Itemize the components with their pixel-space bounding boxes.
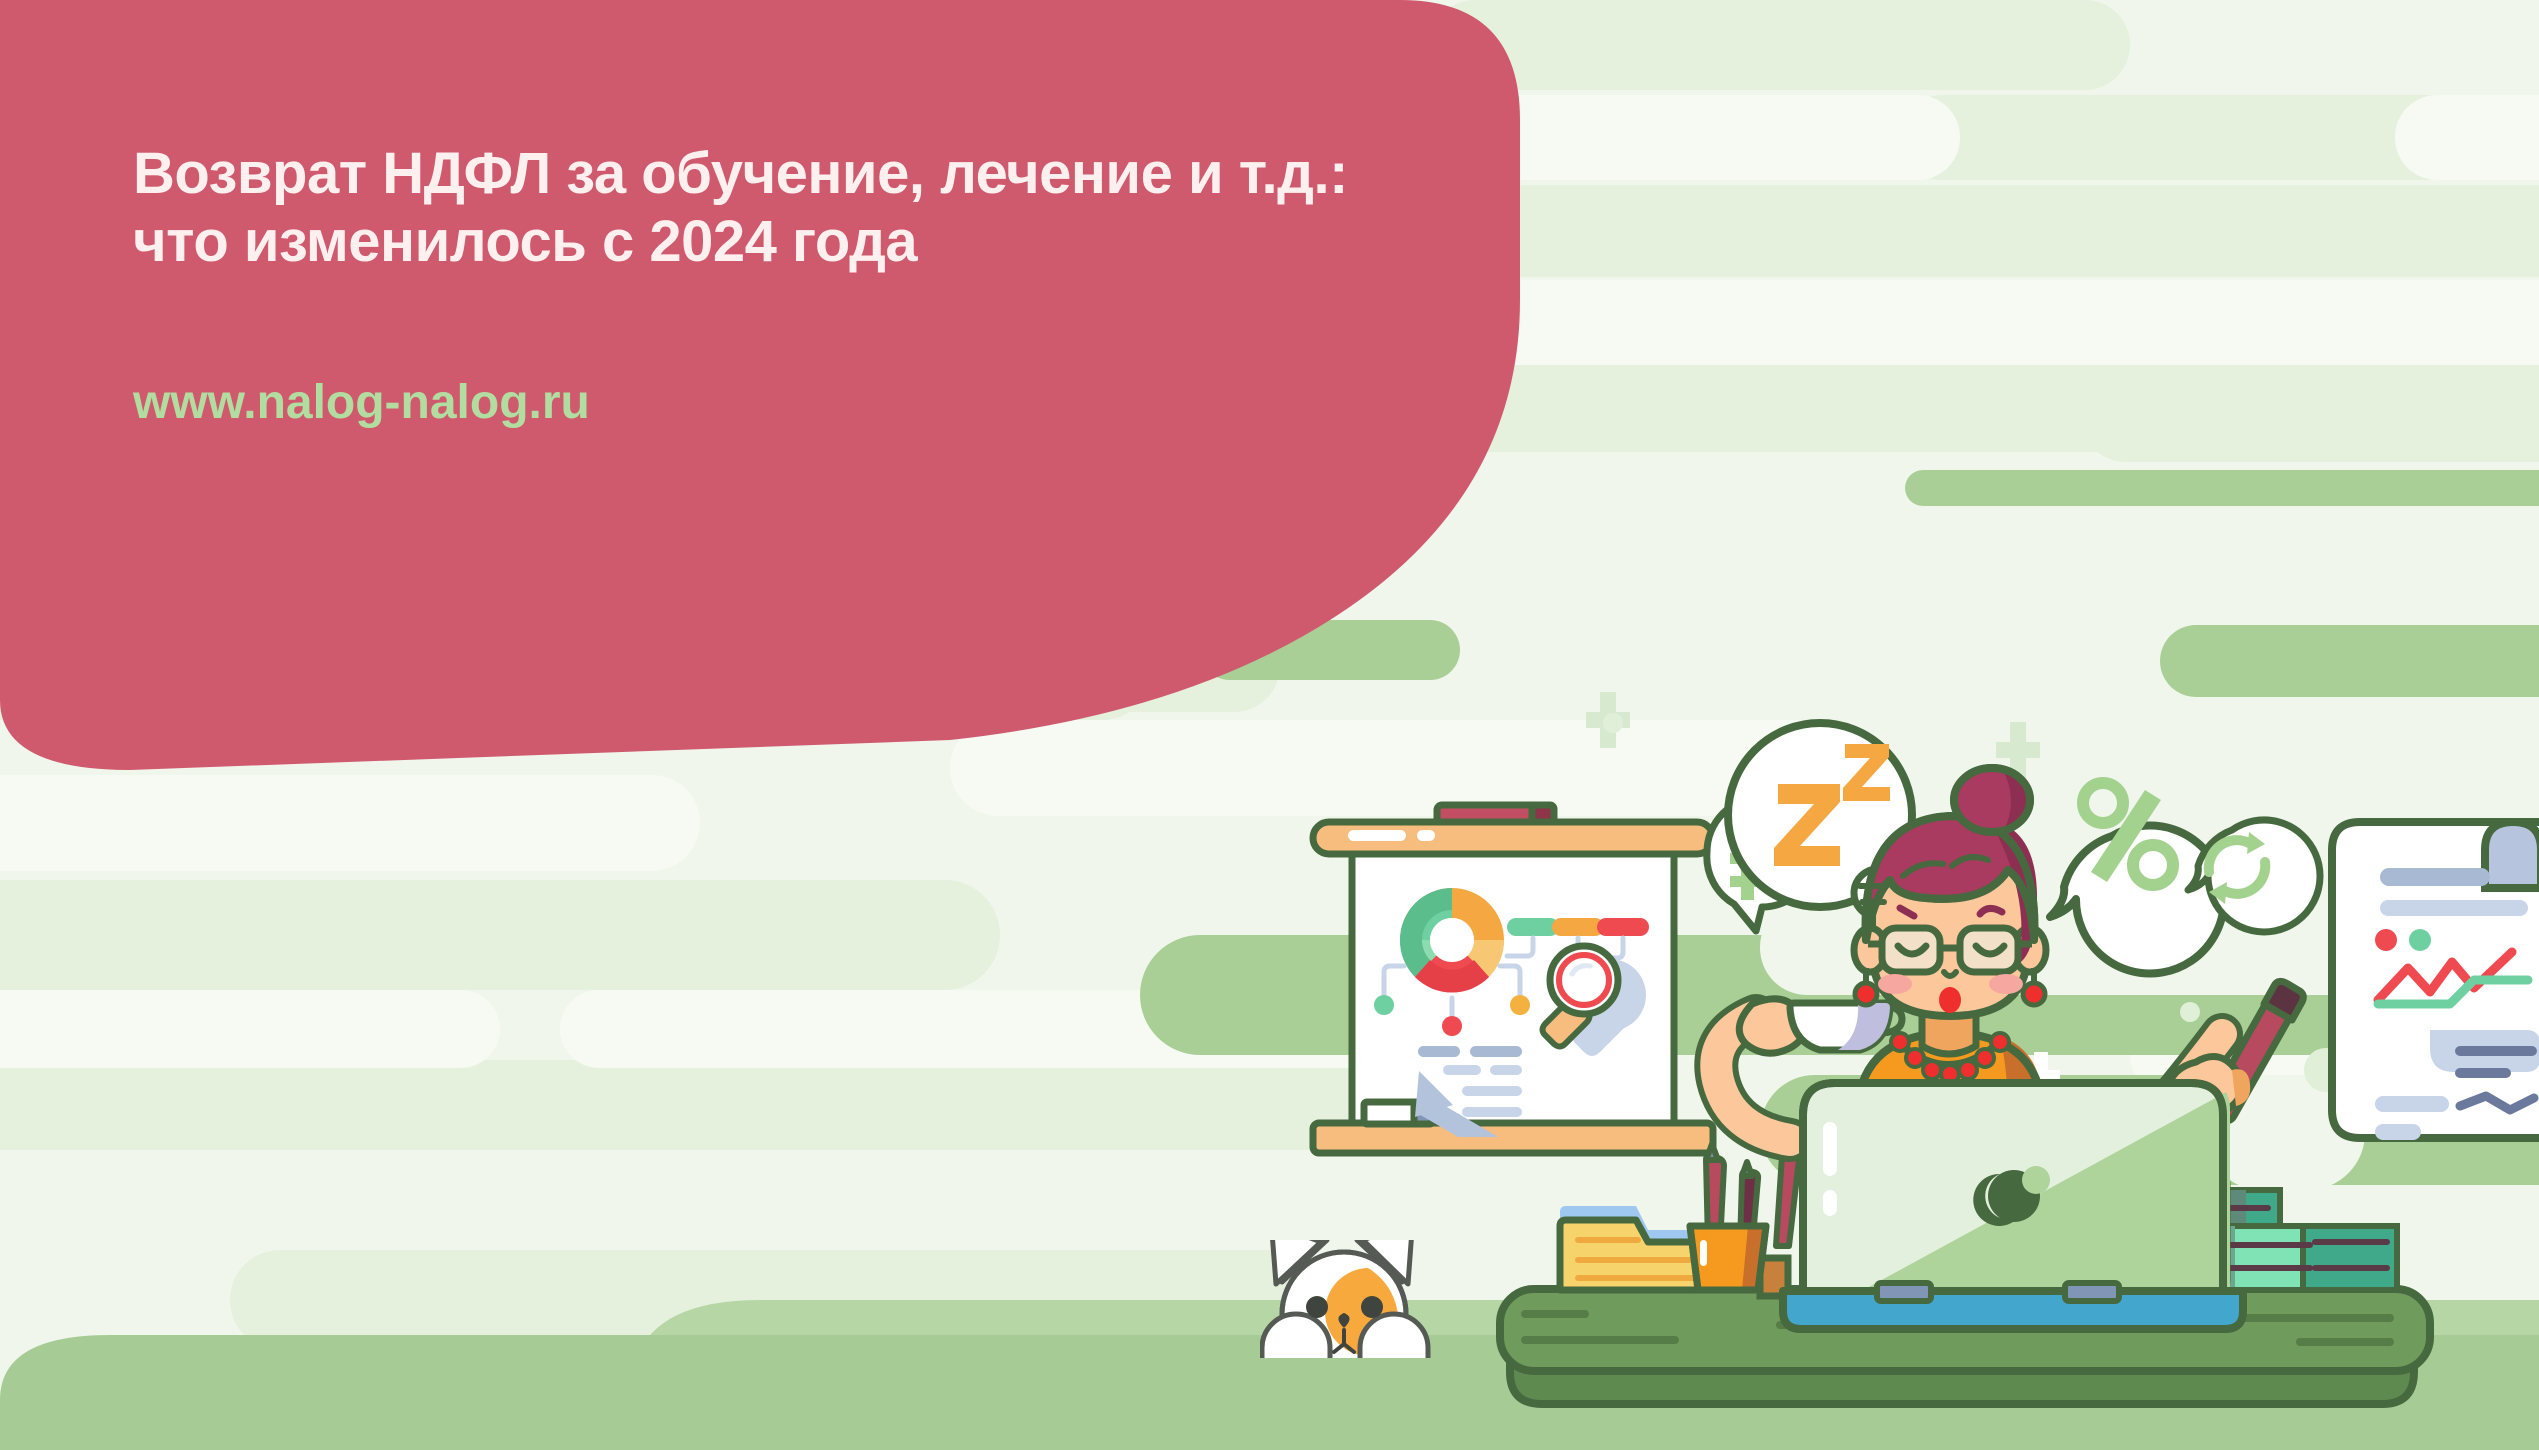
laptop [1783, 1083, 2243, 1330]
desk-stationery [1560, 1140, 1799, 1296]
headline-block: Возврат НДФЛ за обучение, лечение и т.д.… [133, 140, 1133, 430]
banner-canvas: Возврат НДФЛ за обучение, лечение и т.д.… [0, 0, 2539, 1450]
page-title: Возврат НДФЛ за обучение, лечение и т.д.… [133, 140, 1133, 277]
report-sheet [2332, 822, 2539, 1140]
coffee-cup [1790, 1003, 1902, 1050]
books-stack [2207, 1190, 2397, 1290]
headline-line-2: что изменилось с 2024 года [133, 208, 1133, 276]
headline-line-1: Возврат НДФЛ за обучение, лечение и т.д.… [133, 141, 1348, 206]
site-url-link[interactable]: www.nalog-nalog.ru [133, 375, 1133, 430]
presentation-board [1313, 805, 1713, 1153]
cat-mascot [1262, 1224, 1428, 1376]
